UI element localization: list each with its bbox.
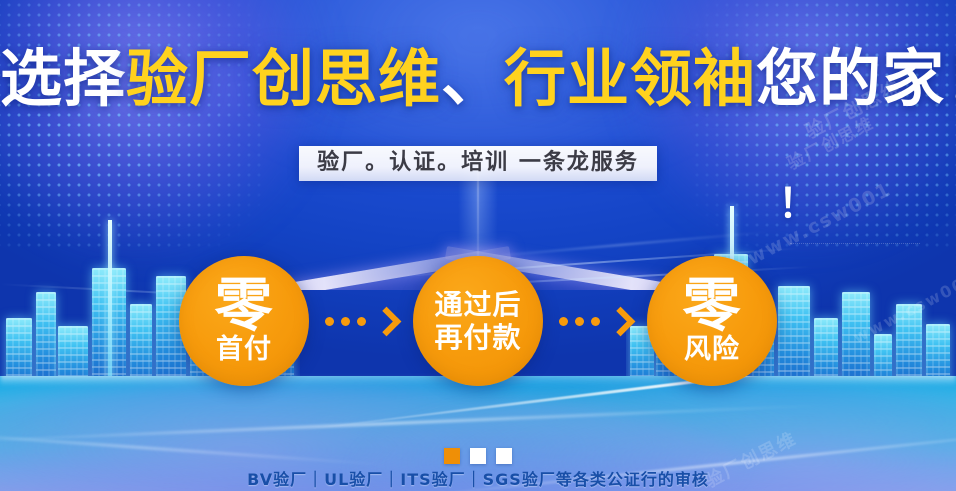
- arrow-dot: [341, 317, 350, 326]
- step-circle-3[interactable]: 零 风险: [647, 256, 777, 386]
- step-3-secondary-label: 风险: [684, 336, 740, 364]
- step-1-primary-label: 零: [214, 278, 273, 334]
- arrow-dot: [591, 317, 600, 326]
- step-1-secondary-label: 首付: [216, 336, 272, 364]
- arrow-dot: [575, 317, 584, 326]
- headline-segment-3: 、: [441, 42, 504, 115]
- step-circle-1[interactable]: 零 首付: [179, 256, 309, 386]
- promo-banner: 选择验厂创思维、行业领袖您的家！ 验厂。认证。培训 一条龙服务 ！ 零 首付 通…: [0, 0, 956, 491]
- headline-segment-5: 您的家！: [756, 42, 956, 115]
- arrow-dot: [559, 317, 568, 326]
- watermark-dotted-line: [790, 243, 920, 245]
- subtitle-bar-wrapper: 验厂。认证。培训 一条龙服务: [0, 146, 956, 181]
- steps-row: 零 首付 通过后 再付款 零 风险: [0, 256, 956, 386]
- step-2-line-1: 通过后: [434, 288, 521, 321]
- carousel-dot-3[interactable]: [496, 448, 512, 464]
- subtitle-bar: 验厂。认证。培训 一条龙服务: [299, 146, 657, 181]
- chevron-right-icon: [372, 306, 402, 336]
- carousel-indicators: [0, 448, 956, 464]
- headline: 选择验厂创思维、行业领袖您的家！: [0, 48, 956, 110]
- step-2-line-2: 再付款: [434, 321, 521, 354]
- arrow-dot: [357, 317, 366, 326]
- carousel-dot-1[interactable]: [444, 448, 460, 464]
- headline-segment-4: 行业领袖: [504, 42, 756, 115]
- step-arrow-2: [543, 311, 647, 332]
- exclamation-mark: ！: [778, 184, 818, 224]
- headline-segment-1: 选择: [0, 42, 126, 115]
- chevron-right-icon: [606, 306, 636, 336]
- arrow-dot: [325, 317, 334, 326]
- headline-segment-2: 验厂创思维: [126, 42, 441, 115]
- step-circle-2[interactable]: 通过后 再付款: [413, 256, 543, 386]
- step-arrow-1: [309, 311, 413, 332]
- certification-list: BV验厂｜UL验厂｜ITS验厂｜SGS验厂等各类公证行的审核: [0, 466, 956, 490]
- carousel-dot-2[interactable]: [470, 448, 486, 464]
- step-3-primary-label: 零: [682, 278, 741, 334]
